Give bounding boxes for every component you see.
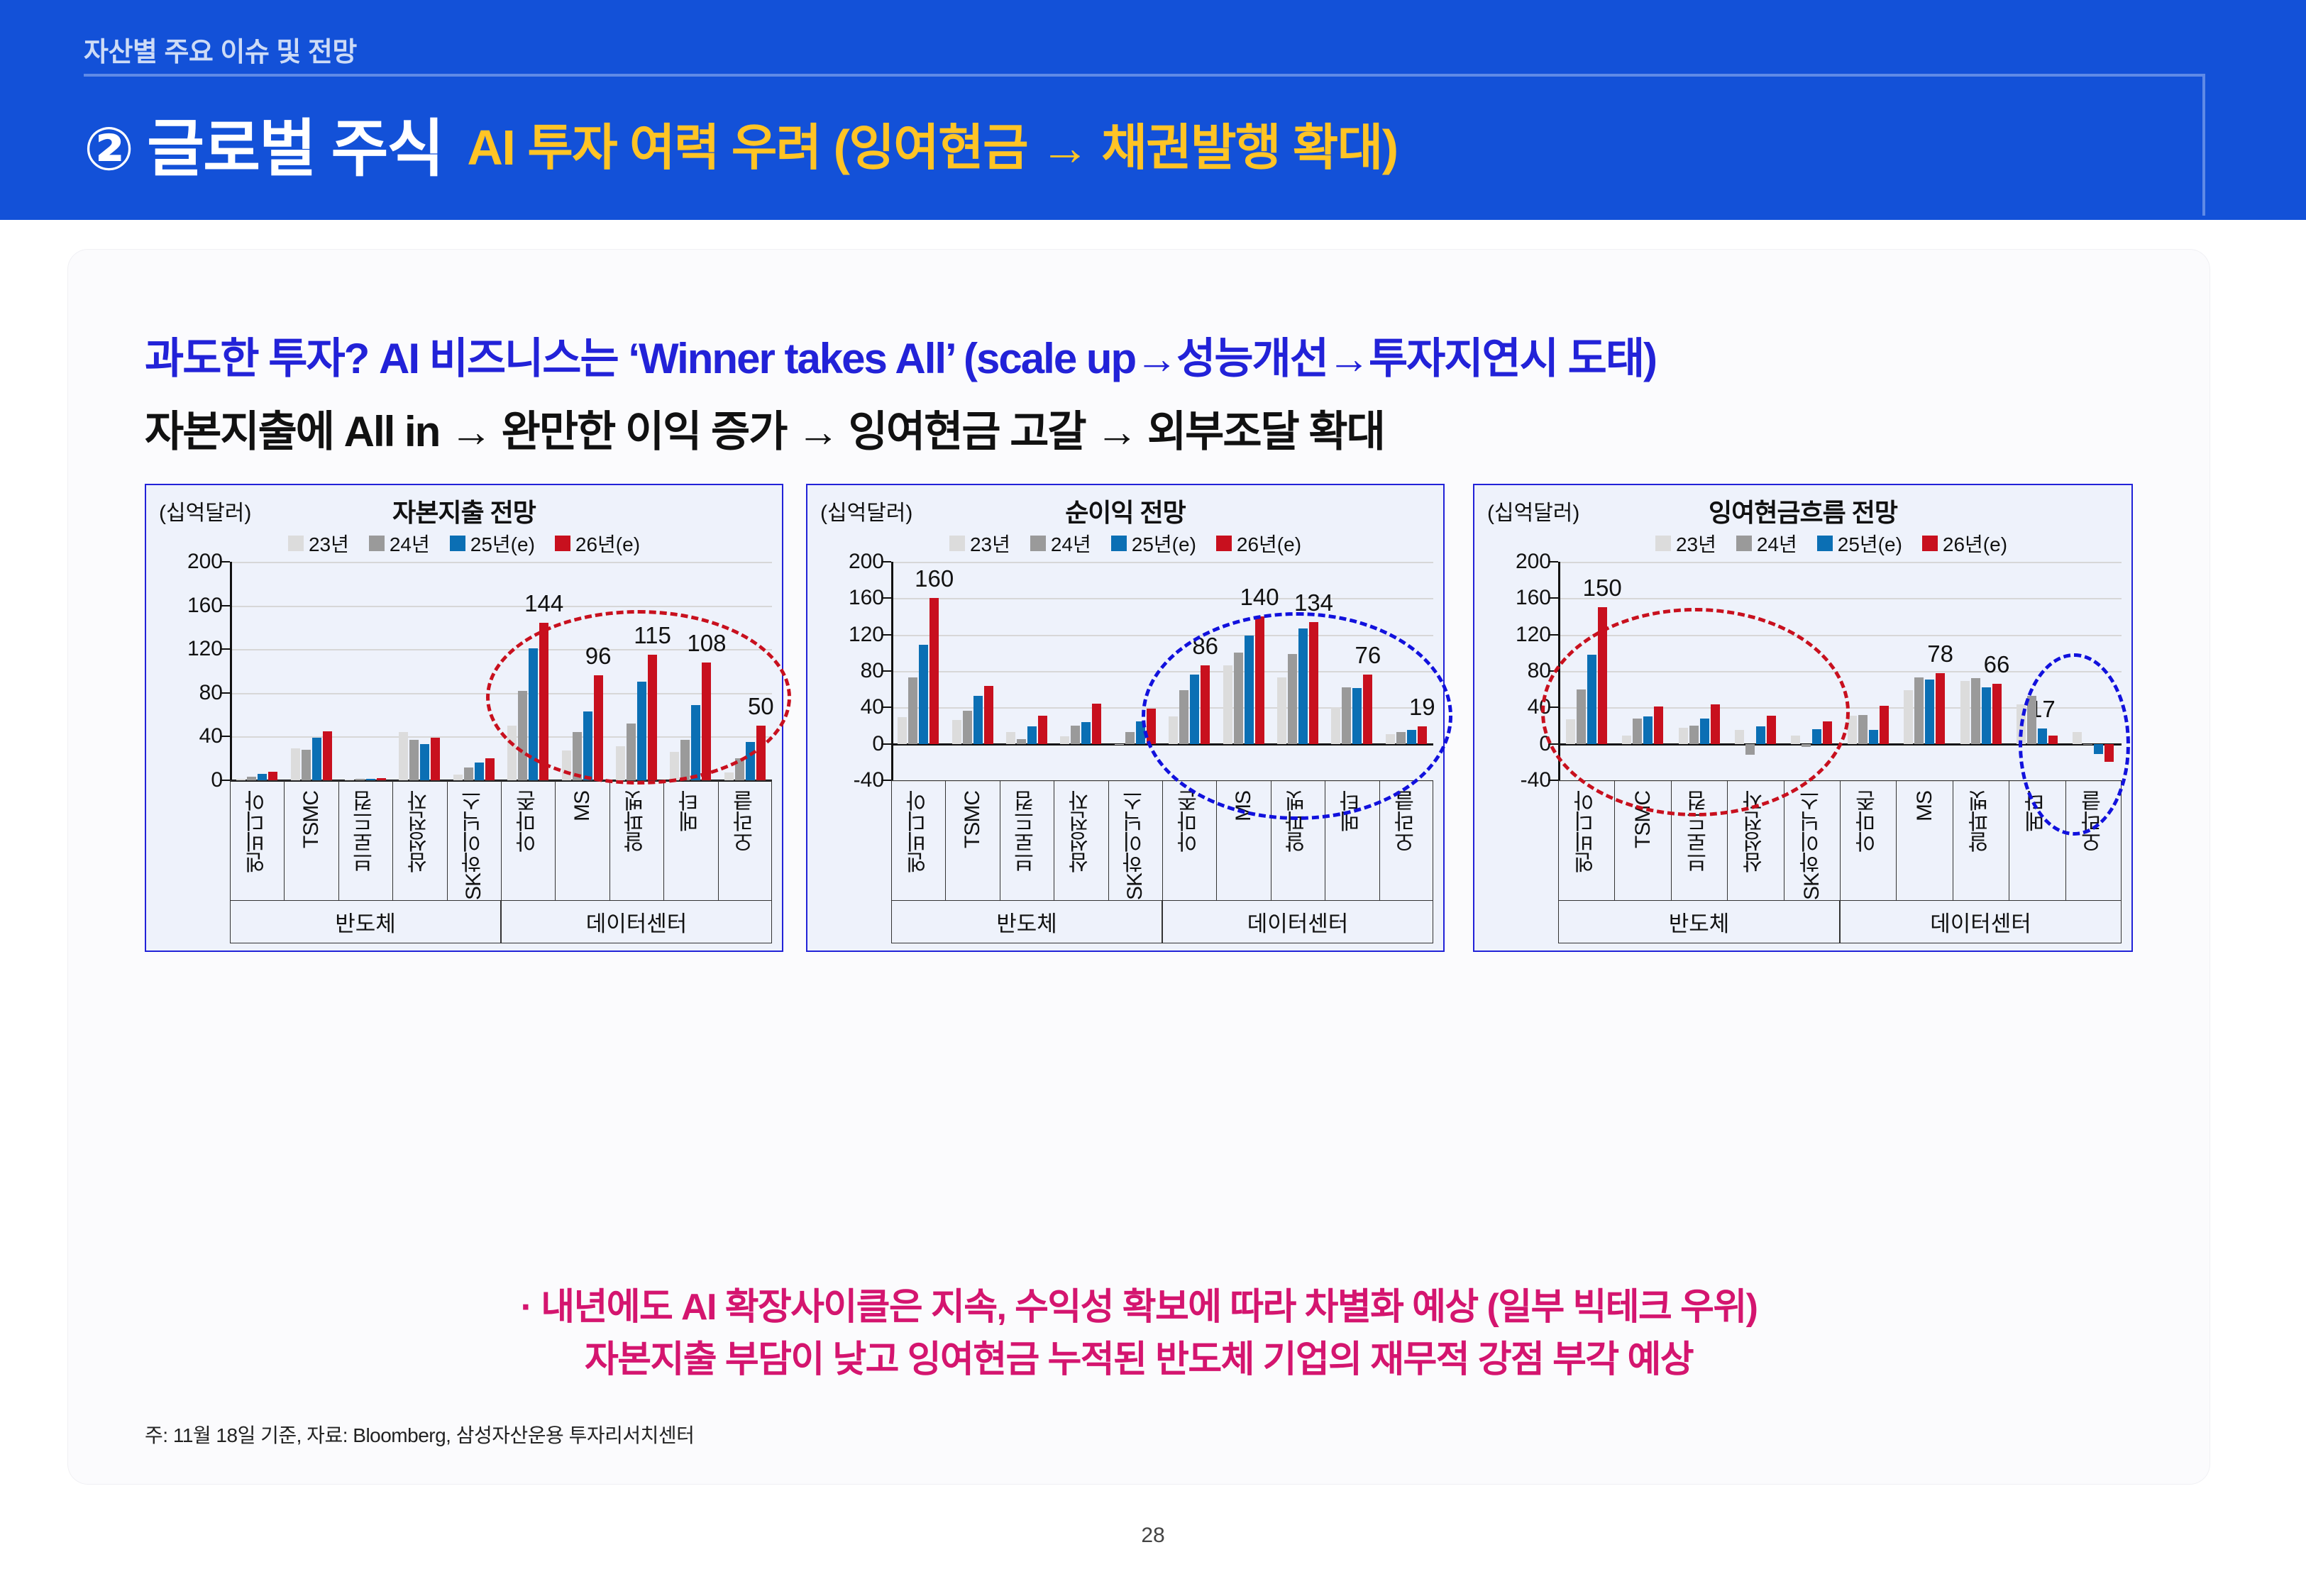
x-axis-label: 삼성전자 bbox=[1740, 791, 1771, 873]
x-axis-label: 브로드컴 bbox=[1684, 791, 1715, 873]
chart-bar bbox=[973, 696, 983, 744]
x-axis-group-1: 데이터센터 bbox=[1162, 901, 1433, 943]
legend-label: 23년 bbox=[970, 529, 1010, 558]
chart-y-tick-label: 160 bbox=[187, 594, 223, 618]
chart-y-tick-label: -40 bbox=[1521, 768, 1551, 792]
chart-bars: 160861401347619 bbox=[891, 562, 1433, 780]
chart-bar bbox=[1577, 689, 1586, 744]
chart-bar bbox=[594, 675, 603, 780]
chart-bar-group bbox=[2073, 562, 2114, 780]
x-axis-label: MS bbox=[1232, 791, 1256, 821]
x-axis-label: MS bbox=[570, 791, 595, 821]
x-axis-cell: 오라클 bbox=[2066, 781, 2122, 900]
chart-bar bbox=[1858, 715, 1868, 744]
chart-bar bbox=[1363, 675, 1372, 744]
x-axis-label: 엔비디아 bbox=[1571, 791, 1602, 873]
chart-bar bbox=[1223, 665, 1232, 743]
x-axis-label: 알파벳 bbox=[1965, 791, 1997, 853]
x-axis-cell: TSMC bbox=[946, 781, 1000, 900]
chart-bar-group bbox=[1060, 562, 1101, 780]
header-divider bbox=[84, 74, 2205, 77]
chart-bar-group bbox=[1566, 562, 1607, 780]
chart-bar bbox=[963, 711, 972, 743]
chart-bar bbox=[475, 763, 484, 780]
chart-bar-group bbox=[236, 562, 277, 780]
chart-y-tick-label: 80 bbox=[1528, 659, 1551, 683]
chart-bar-group bbox=[2017, 562, 2058, 780]
chart-bar bbox=[1679, 728, 1688, 744]
chart-legend: 23년24년25년(e)26년(e) bbox=[807, 529, 1443, 558]
legend-label: 23년 bbox=[1676, 529, 1716, 558]
chart-bar bbox=[1027, 726, 1037, 743]
chart-bar-group bbox=[1277, 562, 1318, 780]
chart-bar bbox=[464, 767, 473, 780]
x-axis-cell: MS bbox=[1217, 781, 1271, 900]
x-axis-cell: 삼성전자 bbox=[393, 781, 447, 900]
x-axis-label: 오라클 bbox=[730, 791, 761, 853]
chart-y-tick-label: 0 bbox=[211, 768, 223, 792]
x-axis-label: 삼성전자 bbox=[1066, 791, 1097, 873]
legend-item-0: 23년 bbox=[1655, 529, 1716, 558]
x-axis-label: 엔비디아 bbox=[242, 791, 273, 873]
x-axis-label: 알파벳 bbox=[1282, 791, 1313, 853]
chart-bar bbox=[562, 750, 571, 780]
chart-bar bbox=[919, 645, 928, 744]
chart-bar bbox=[1767, 716, 1776, 744]
chart-bar bbox=[291, 748, 300, 780]
x-axis-cell: 엔비디아 bbox=[1559, 781, 1615, 900]
chart-bar bbox=[1309, 622, 1318, 744]
slide-header: 자산별 주요 이슈 및 전망 ② 글로벌 주식 AI 투자 여력 우려 (잉여현… bbox=[0, 0, 2306, 220]
chart-bar bbox=[1992, 684, 2002, 744]
chart-bars: 1449611510850 bbox=[230, 562, 772, 780]
chart-bar bbox=[2017, 704, 2026, 743]
chart-bar-group bbox=[1169, 562, 1210, 780]
chart-bar bbox=[573, 732, 582, 780]
chart-bar bbox=[1823, 721, 1832, 744]
header-title-row: ② 글로벌 주식 AI 투자 여력 우려 (잉여현금 → 채권발행 확대) bbox=[84, 99, 1398, 199]
chart-bar bbox=[1081, 722, 1091, 744]
chart-bar bbox=[2038, 728, 2047, 744]
chart-bar bbox=[431, 738, 440, 780]
chart-y-tick-label: 200 bbox=[187, 550, 223, 574]
x-axis-label: 메타 bbox=[1337, 791, 1368, 832]
chart-bar bbox=[1711, 704, 1720, 743]
chart-y-tick-label: 200 bbox=[1516, 550, 1551, 574]
x-axis-cell: 알파벳 bbox=[1953, 781, 2009, 900]
slide: 자산별 주요 이슈 및 전망 ② 글로벌 주식 AI 투자 여력 우려 (잉여현… bbox=[0, 0, 2306, 1596]
chart-bar bbox=[1071, 726, 1080, 744]
chart-bar bbox=[2083, 744, 2092, 746]
chart-bar bbox=[1848, 716, 1857, 744]
chart-bar-group bbox=[291, 562, 332, 780]
x-axis-cell: 삼성전자 bbox=[1054, 781, 1108, 900]
chart-bar-group bbox=[898, 562, 939, 780]
chart-y-tick-label: 200 bbox=[849, 550, 884, 574]
chart-bar bbox=[529, 648, 538, 780]
chart-x-axis-zone: 엔비디아TSMC브로드컴삼성전자SK하이닉스아마존MS알파벳메타오라클 bbox=[230, 780, 772, 901]
chart-bar bbox=[1125, 732, 1135, 744]
x-axis-label: 삼성전자 bbox=[404, 791, 436, 873]
legend-label: 25년(e) bbox=[1838, 529, 1902, 558]
chart-bar-group bbox=[1006, 562, 1047, 780]
legend-item-2: 25년(e) bbox=[1111, 529, 1196, 558]
source-note: 주: 11월 18일 기준, 자료: Bloomberg, 삼성자산운용 투자리… bbox=[145, 1420, 694, 1448]
chart-bar bbox=[1396, 732, 1406, 744]
x-axis-cell: TSMC bbox=[285, 781, 338, 900]
chart-bar bbox=[1331, 707, 1340, 743]
chart-bar bbox=[1914, 677, 1924, 744]
chart-bar bbox=[627, 724, 636, 780]
chart-bar bbox=[746, 742, 755, 780]
chart-bar bbox=[929, 598, 939, 743]
chart-bar bbox=[1006, 732, 1015, 744]
chart-title: 잉여현금흐름 전망 bbox=[1474, 492, 2131, 529]
chart-bar bbox=[1386, 734, 1395, 744]
chart-plot-area: -4004080120160200160861401347619 bbox=[891, 562, 1433, 780]
chart-bar-group bbox=[1115, 562, 1156, 780]
chart-bar bbox=[691, 705, 700, 780]
x-axis-cell: 엔비디아 bbox=[231, 781, 285, 900]
chart-bar bbox=[268, 772, 277, 780]
chart-y-tick-label: 80 bbox=[199, 681, 223, 705]
x-axis-group-1: 데이터센터 bbox=[501, 901, 772, 943]
chart-y-tick-label: 80 bbox=[861, 659, 884, 683]
chart-bar-group bbox=[1960, 562, 2002, 780]
section-number: ② bbox=[84, 119, 134, 179]
legend-swatch bbox=[949, 536, 965, 551]
chart-bar bbox=[1925, 680, 1934, 744]
chart-bar bbox=[2048, 736, 2058, 744]
chart-bar bbox=[1245, 636, 1254, 744]
legend-label: 26년(e) bbox=[1943, 529, 2007, 558]
chart-bar bbox=[2073, 732, 2082, 744]
chart-bar bbox=[1598, 607, 1607, 744]
chart-y-tick-label: -40 bbox=[854, 768, 884, 792]
chart-bar bbox=[1700, 719, 1709, 744]
chart-bar-group bbox=[507, 562, 548, 780]
x-axis-group-0: 반도체 bbox=[891, 901, 1162, 943]
chart-bar bbox=[1298, 628, 1308, 744]
chart-bar bbox=[1960, 681, 1970, 744]
chart-bar bbox=[984, 686, 993, 744]
chart-bar bbox=[648, 655, 657, 780]
chart-bar-group bbox=[1386, 562, 1427, 780]
x-axis-cell: TSMC bbox=[1615, 781, 1671, 900]
chart-bar bbox=[1418, 726, 1427, 743]
chart-bar bbox=[1038, 716, 1047, 744]
x-axis-label: 메타 bbox=[2021, 791, 2053, 832]
chart-bar bbox=[312, 738, 321, 780]
legend-item-2: 25년(e) bbox=[450, 529, 535, 558]
chart-bar bbox=[1633, 719, 1642, 744]
chart-bar-group bbox=[616, 562, 657, 780]
content-card: 과도한 투자? AI 비즈니스는 ‘Winner takes All’ (sca… bbox=[68, 250, 2210, 1484]
x-axis-label: SK하이닉스 bbox=[1120, 791, 1151, 900]
x-axis-cell: 알파벳 bbox=[610, 781, 664, 900]
chart-bar bbox=[724, 772, 734, 780]
chart-bar bbox=[1201, 665, 1210, 743]
legend-item-0: 23년 bbox=[949, 529, 1010, 558]
chart-bar bbox=[539, 623, 548, 780]
chart-bar bbox=[1880, 706, 1889, 744]
chart-bar bbox=[2104, 744, 2114, 763]
chart-bar bbox=[1643, 716, 1653, 744]
x-axis-label: 오라클 bbox=[2078, 791, 2109, 853]
chart-bar bbox=[1288, 654, 1297, 744]
header-kicker: 자산별 주요 이슈 및 전망 bbox=[84, 30, 357, 69]
header-right-divider bbox=[2202, 74, 2205, 216]
legend-swatch bbox=[1817, 536, 1833, 551]
x-axis-cell: 오라클 bbox=[719, 781, 773, 900]
x-axis-cell: MS bbox=[556, 781, 609, 900]
x-axis-label: 알파벳 bbox=[621, 791, 652, 853]
chart-bar bbox=[952, 720, 961, 743]
x-axis-cell: 엔비디아 bbox=[892, 781, 946, 900]
chart-bar bbox=[2027, 696, 2036, 744]
chart-bar-group bbox=[1679, 562, 1720, 780]
chart-bar bbox=[735, 758, 744, 780]
chart-y-tick-label: 0 bbox=[872, 732, 884, 756]
legend-item-3: 26년(e) bbox=[1216, 529, 1301, 558]
legend-label: 25년(e) bbox=[1132, 529, 1196, 558]
chart-bar bbox=[1745, 744, 1755, 755]
chart-bar bbox=[399, 732, 408, 780]
legend-swatch bbox=[450, 536, 465, 551]
x-axis-cell: SK하이닉스 bbox=[1784, 781, 1841, 900]
legend-item-3: 26년(e) bbox=[555, 529, 640, 558]
chart-legend: 23년24년25년(e)26년(e) bbox=[146, 529, 782, 558]
chart-y-tick-label: 40 bbox=[861, 695, 884, 719]
chart-bar bbox=[1169, 716, 1178, 744]
legend-label: 24년 bbox=[390, 529, 430, 558]
chart-y-tick-label: 0 bbox=[1539, 732, 1551, 756]
chart-bar bbox=[1179, 690, 1188, 744]
chart-panel-fcf: (십억달러)잉여현금흐름 전망23년24년25년(e)26년(e)-400408… bbox=[1473, 484, 2133, 952]
page-title: 글로벌 주식 bbox=[147, 118, 443, 180]
chart-plot-area: 040801201602001449611510850 bbox=[230, 562, 772, 780]
x-axis-cell: 알파벳 bbox=[1271, 781, 1325, 900]
legend-item-1: 24년 bbox=[369, 529, 430, 558]
x-axis-label: 브로드컴 bbox=[350, 791, 381, 873]
chart-bar bbox=[1147, 709, 1156, 744]
chart-bar bbox=[1622, 736, 1631, 744]
x-axis-label: 브로드컴 bbox=[1011, 791, 1042, 873]
x-axis-cell: 오라클 bbox=[1380, 781, 1434, 900]
chart-y-tick-label: 40 bbox=[1528, 695, 1551, 719]
legend-item-1: 24년 bbox=[1030, 529, 1091, 558]
x-axis-cell: 아마존 bbox=[1163, 781, 1217, 900]
chart-bars: 150786617 bbox=[1558, 562, 2122, 780]
chart-bar-group bbox=[399, 562, 440, 780]
x-axis-cell: 메타 bbox=[2009, 781, 2065, 900]
chart-bar bbox=[1971, 678, 1980, 743]
chart-y-tick-label: 120 bbox=[849, 623, 884, 647]
chart-bar bbox=[1904, 690, 1913, 744]
x-axis-cell: 브로드컴 bbox=[1000, 781, 1054, 900]
chart-title: 순이익 전망 bbox=[807, 492, 1443, 529]
chart-bar bbox=[1060, 736, 1069, 743]
chart-bar-group bbox=[670, 562, 711, 780]
chart-bar-group bbox=[1904, 562, 1945, 780]
chart-bar bbox=[583, 711, 592, 780]
chart-bar bbox=[702, 663, 711, 780]
bullet-line-2: 자본지출 부담이 낮고 잉여현금 누적된 반도체 기업의 재무적 강점 부각 예… bbox=[68, 1334, 2210, 1387]
legend-label: 24년 bbox=[1051, 529, 1091, 558]
x-axis-cell: 브로드컴 bbox=[1672, 781, 1728, 900]
legend-swatch bbox=[1655, 536, 1671, 551]
chart-bar bbox=[1566, 719, 1575, 744]
legend-label: 24년 bbox=[1757, 529, 1797, 558]
chart-bar bbox=[302, 750, 311, 780]
chart-bar bbox=[485, 758, 495, 780]
chart-bar bbox=[616, 746, 625, 780]
chart-bar bbox=[1407, 730, 1416, 743]
legend-swatch bbox=[288, 536, 304, 551]
chart-bar-group bbox=[1848, 562, 1889, 780]
chart-bar bbox=[420, 744, 429, 780]
chart-x-axis-zone: 엔비디아TSMC브로드컴삼성전자SK하이닉스아마존MS알파벳메타오라클 bbox=[891, 780, 1433, 901]
legend-swatch bbox=[1111, 536, 1127, 551]
chart-bar bbox=[1190, 675, 1199, 744]
chart-bar bbox=[1812, 729, 1821, 744]
chart-bar-group bbox=[453, 562, 495, 780]
chart-bar bbox=[1756, 726, 1765, 743]
chart-bar bbox=[258, 774, 267, 780]
chart-bar bbox=[1115, 744, 1124, 746]
chart-bar bbox=[2094, 744, 2103, 754]
chart-bar-group bbox=[724, 562, 766, 780]
chart-bar bbox=[323, 731, 332, 780]
x-axis-group-0: 반도체 bbox=[230, 901, 501, 943]
lead-line-2: 자본지출에 All in → 완만한 이익 증가 → 잉여현금 고갈 → 외부조… bbox=[145, 397, 1384, 459]
chart-bar bbox=[637, 682, 646, 780]
x-axis-label: TSMC bbox=[299, 791, 324, 848]
legend-swatch bbox=[1030, 536, 1046, 551]
chart-bar-group bbox=[1791, 562, 1832, 780]
legend-label: 23년 bbox=[309, 529, 349, 558]
chart-x-axis-zone: 엔비디아TSMC브로드컴삼성전자SK하이닉스아마존MS알파벳메타오라클 bbox=[1558, 780, 2122, 901]
chart-bar bbox=[1689, 726, 1699, 744]
x-axis-cell: 아마존 bbox=[502, 781, 556, 900]
legend-item-2: 25년(e) bbox=[1817, 529, 1902, 558]
chart-bar bbox=[756, 726, 766, 780]
legend-label: 26년(e) bbox=[1237, 529, 1301, 558]
x-axis-label: 오라클 bbox=[1391, 791, 1423, 853]
chart-y-tick-label: 160 bbox=[1516, 586, 1551, 610]
bullet-notes: · 내년에도 AI 확장사이클은 지속, 수익성 확보에 따라 차별화 예상 (… bbox=[68, 1282, 2210, 1387]
chart-bar bbox=[908, 677, 917, 744]
chart-y-tick-label: 120 bbox=[187, 637, 223, 661]
chart-bar bbox=[1092, 704, 1101, 743]
x-axis-cell: 메타 bbox=[1325, 781, 1379, 900]
x-axis-group-0: 반도체 bbox=[1558, 901, 1840, 943]
chart-panel-netincome: (십억달러)순이익 전망23년24년25년(e)26년(e)-400408012… bbox=[806, 484, 1445, 952]
legend-swatch bbox=[369, 536, 385, 551]
chart-y-tick-label: 120 bbox=[1516, 623, 1551, 647]
chart-bar bbox=[1869, 730, 1878, 743]
x-axis-label: 메타 bbox=[675, 791, 707, 832]
chart-y-tick-label: 40 bbox=[199, 724, 223, 748]
legend-swatch bbox=[1922, 536, 1938, 551]
x-axis-label: 아마존 bbox=[1853, 791, 1884, 853]
legend-item-0: 23년 bbox=[288, 529, 349, 558]
chart-bar bbox=[1255, 616, 1264, 744]
chart-bar bbox=[670, 752, 679, 780]
x-axis-cell: 메타 bbox=[664, 781, 718, 900]
chart-bar bbox=[507, 726, 517, 780]
legend-swatch bbox=[1216, 536, 1232, 551]
chart-bar bbox=[1791, 736, 1800, 744]
chart-title: 자본지출 전망 bbox=[146, 492, 782, 529]
chart-bar bbox=[1136, 721, 1145, 744]
chart-bar bbox=[1802, 744, 1811, 747]
chart-bar-group bbox=[1223, 562, 1264, 780]
x-axis-cell: 브로드컴 bbox=[339, 781, 393, 900]
chart-bar bbox=[453, 775, 463, 780]
page-subtitle: AI 투자 여력 우려 (잉여현금 → 채권발행 확대) bbox=[467, 123, 1397, 175]
legend-item-3: 26년(e) bbox=[1922, 529, 2007, 558]
chart-panel-capex: (십억달러)자본지출 전망23년24년25년(e)26년(e)040801201… bbox=[145, 484, 783, 952]
x-axis-label: MS bbox=[1913, 791, 1937, 821]
chart-bar-group bbox=[1331, 562, 1372, 780]
chart-bar-group bbox=[562, 562, 603, 780]
legend-swatch bbox=[555, 536, 570, 551]
x-axis-cell: 아마존 bbox=[1841, 781, 1897, 900]
chart-legend: 23년24년25년(e)26년(e) bbox=[1474, 529, 2160, 558]
x-axis-label: 아마존 bbox=[513, 791, 544, 853]
chart-bar bbox=[1654, 706, 1663, 744]
x-axis-cell: SK하이닉스 bbox=[1109, 781, 1163, 900]
legend-item-1: 24년 bbox=[1736, 529, 1797, 558]
bullet-line-1: · 내년에도 AI 확장사이클은 지속, 수익성 확보에 따라 차별화 예상 (… bbox=[68, 1282, 2210, 1334]
chart-bar-group bbox=[952, 562, 993, 780]
chart-bar bbox=[1936, 673, 1945, 744]
chart-bar bbox=[518, 691, 527, 780]
chart-bar bbox=[1277, 677, 1286, 744]
chart-bar bbox=[1342, 687, 1351, 744]
x-axis-label: TSMC bbox=[961, 791, 985, 848]
x-axis-cell: MS bbox=[1897, 781, 1953, 900]
lead-line-1: 과도한 투자? AI 비즈니스는 ‘Winner takes All’ (sca… bbox=[145, 324, 1656, 386]
x-axis-label: 엔비디아 bbox=[903, 791, 934, 873]
x-axis-label: SK하이닉스 bbox=[1797, 791, 1828, 900]
legend-label: 25년(e) bbox=[470, 529, 535, 558]
chart-bar bbox=[1352, 688, 1362, 743]
chart-bar-group bbox=[345, 562, 386, 780]
chart-bar bbox=[1234, 653, 1243, 743]
chart-bar bbox=[1587, 655, 1596, 744]
chart-y-tick-label: 160 bbox=[849, 586, 884, 610]
x-axis-label: TSMC bbox=[1631, 791, 1655, 848]
chart-bar bbox=[1735, 730, 1744, 743]
page-number: 28 bbox=[0, 1524, 2306, 1548]
legend-swatch bbox=[1736, 536, 1752, 551]
x-axis-cell: 삼성전자 bbox=[1728, 781, 1784, 900]
x-axis-label: 아마존 bbox=[1174, 791, 1206, 853]
x-axis-group-1: 데이터센터 bbox=[1840, 901, 2122, 943]
chart-bar bbox=[1017, 739, 1026, 743]
chart-bar-group bbox=[1735, 562, 1776, 780]
chart-bar bbox=[409, 740, 419, 780]
legend-label: 26년(e) bbox=[575, 529, 640, 558]
x-axis-label: SK하이닉스 bbox=[458, 791, 490, 900]
chart-bar bbox=[1982, 687, 1991, 744]
x-axis-cell: SK하이닉스 bbox=[448, 781, 502, 900]
chart-bar-group bbox=[1622, 562, 1663, 780]
chart-bar bbox=[680, 740, 690, 780]
chart-bar bbox=[898, 717, 907, 743]
